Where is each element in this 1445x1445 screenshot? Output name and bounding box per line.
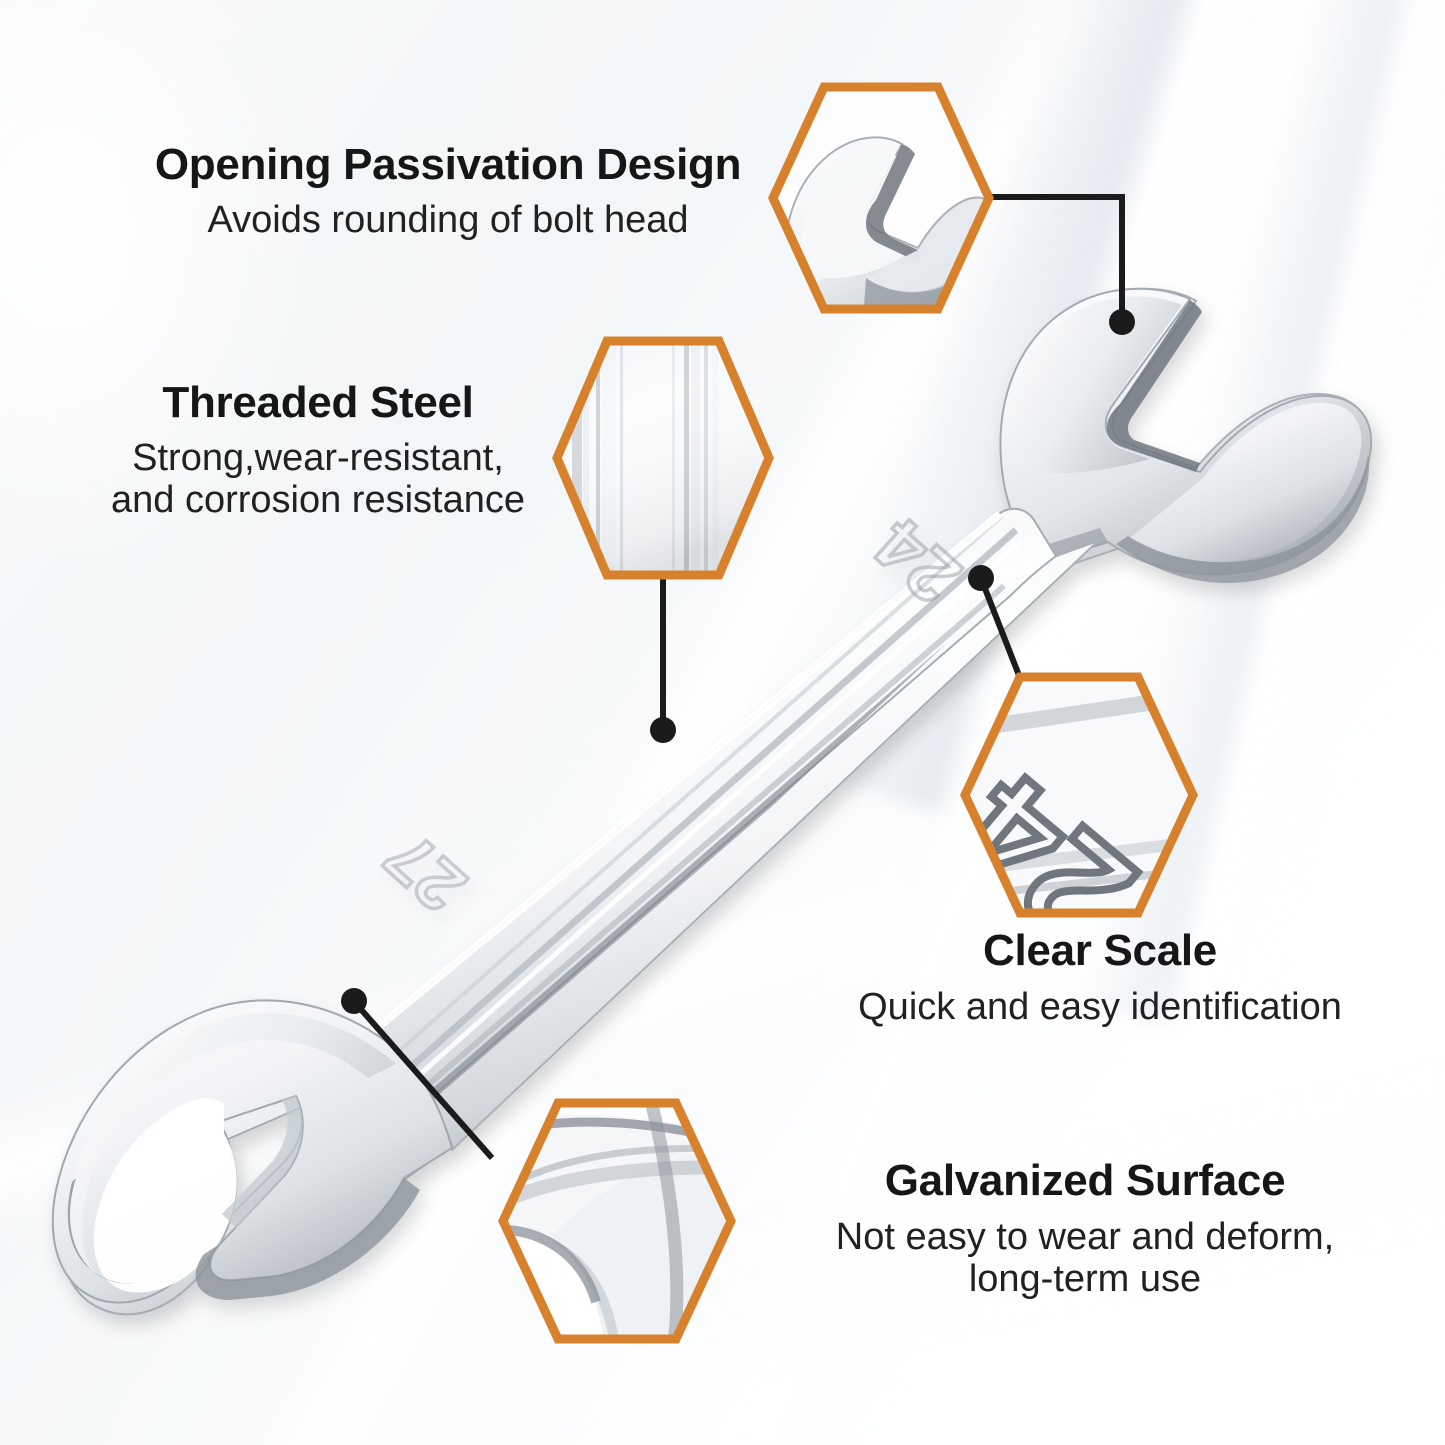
callout-subtitle: Quick and easy identification: [800, 986, 1400, 1029]
hex-callout-opening-passivation: [768, 82, 994, 314]
hex-image-galvanized-head: [488, 1088, 748, 1364]
svg-text:27: 27: [370, 817, 480, 927]
hex-callout-galvanized-surface: [498, 1098, 736, 1344]
callout-subtitle: Avoids rounding of bolt head: [118, 199, 778, 242]
callout-subtitle-line1: Not easy to wear and deform,: [760, 1216, 1410, 1259]
callout-title: Clear Scale: [800, 928, 1400, 974]
wrench-head-24: [1001, 289, 1372, 583]
hex-callout-threaded-steel: [552, 336, 774, 580]
callout-galvanized-surface: Galvanized Surface Not easy to wear and …: [760, 1158, 1410, 1301]
callout-subtitle-line2: and corrosion resistance: [68, 479, 568, 522]
callout-subtitle-line1: Strong,wear-resistant,: [68, 437, 568, 480]
callout-threaded-steel: Threaded Steel Strong,wear-resistant, an…: [68, 380, 568, 522]
wrench-head-27: [53, 1000, 452, 1314]
callout-clear-scale: Clear Scale Quick and easy identificatio…: [800, 928, 1400, 1028]
callout-title: Opening Passivation Design: [118, 142, 778, 188]
callout-title: Threaded Steel: [68, 380, 568, 426]
hex-image-shaft-texture: [552, 336, 774, 580]
callout-opening-passivation: Opening Passivation Design Avoids roundi…: [118, 142, 778, 241]
size-marking-27: 27: [370, 817, 480, 927]
infographic-canvas: 24 27: [0, 0, 1445, 1445]
callout-title: Galvanized Surface: [760, 1158, 1410, 1204]
hex-callout-clear-scale: 24: [960, 672, 1198, 918]
callout-subtitle-line2: long-term use: [760, 1258, 1410, 1301]
